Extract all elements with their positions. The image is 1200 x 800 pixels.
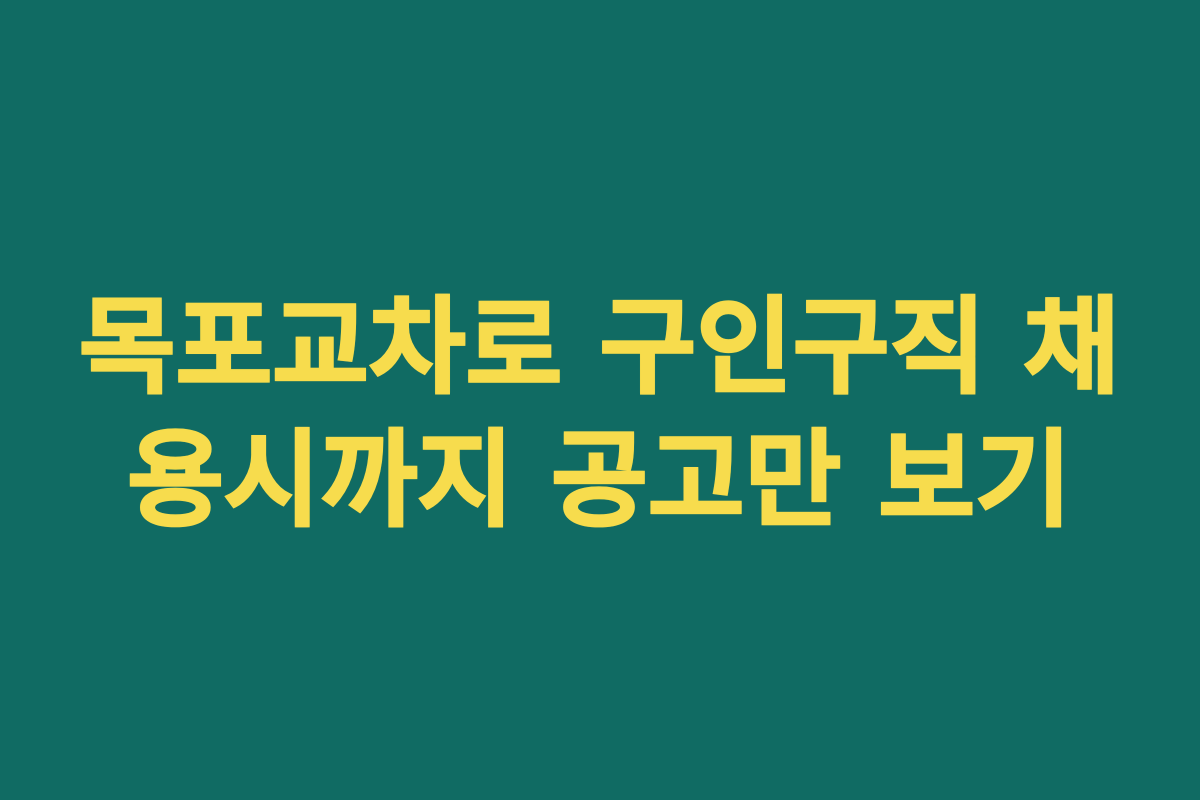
headline-line-1: 목포교차로 구인구직 채 [40,284,1160,411]
headline-block: 목포교차로 구인구직 채 용시까지 공고만 보기 [0,284,1200,544]
text-banner: 목포교차로 구인구직 채 용시까지 공고만 보기 [0,0,1200,800]
headline-line-2: 용시까지 공고만 보기 [40,417,1160,544]
